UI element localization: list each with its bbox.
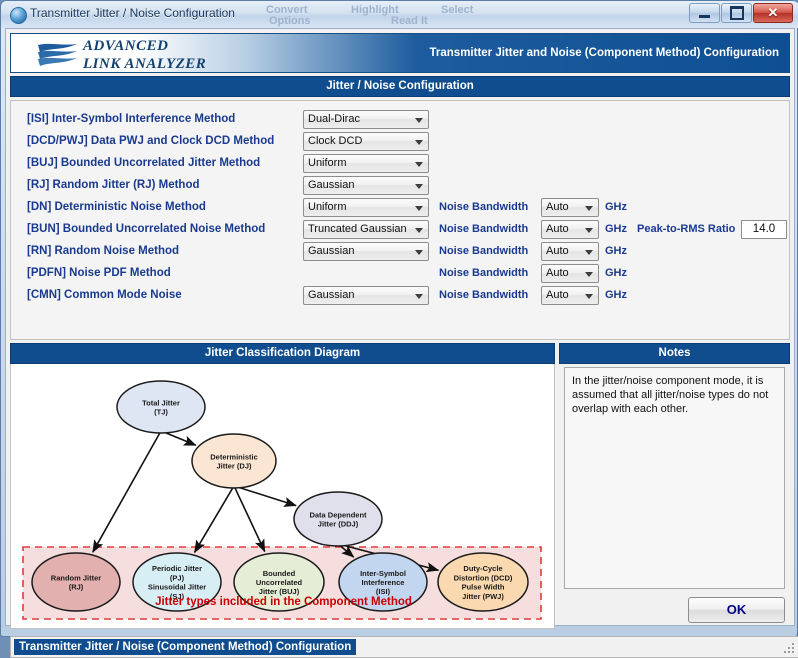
configuration-form: [ISI] Inter-Symbol Interference MethodDu… <box>10 100 790 340</box>
noise-bandwidth-label: Noise Bandwidth <box>439 245 528 257</box>
diagram-node-label-line: (ISI) <box>376 587 391 596</box>
minimize-icon <box>699 15 710 18</box>
svg-text:DeterministicJitter (DJ): DeterministicJitter (DJ) <box>210 452 258 470</box>
chevron-down-icon <box>415 250 423 255</box>
field-label: [DCD/PWJ] Data PWJ and Clock DCD Method <box>27 135 274 147</box>
ghost-text-4: Read It <box>391 15 428 27</box>
field-label: [RN] Random Noise Method <box>27 245 179 257</box>
noise-bandwidth-value: Auto <box>546 267 569 279</box>
globe-icon <box>10 7 27 24</box>
diagram-section-title: Jitter Classification Diagram <box>10 343 555 364</box>
window-title: Transmitter Jitter / Noise Configuration <box>30 6 235 20</box>
diagram-node-label-line: Interference <box>362 578 405 587</box>
bandwidth-unit: GHz <box>605 245 627 257</box>
chevron-down-icon <box>415 184 423 189</box>
method-dropdown-value: Gaussian <box>308 245 354 257</box>
diagram-node-label-line: Periodic Jitter <box>152 564 202 573</box>
diagram-node-label-line: Pulse Width <box>462 583 505 592</box>
method-dropdown-value: Gaussian <box>308 289 354 301</box>
form-row: [ISI] Inter-Symbol Interference MethodDu… <box>11 110 791 132</box>
method-dropdown[interactable]: Uniform <box>303 154 429 173</box>
method-dropdown-value: Clock DCD <box>308 135 362 147</box>
status-text: Transmitter Jitter / Noise (Component Me… <box>14 639 356 655</box>
diagram-node-label-line: Jitter (DDJ) <box>318 520 359 529</box>
jitter-classification-diagram: Total Jitter(TJ)DeterministicJitter (DJ)… <box>10 364 555 629</box>
diagram-node-label-line: Uncorrelated <box>256 578 303 587</box>
chevron-down-icon <box>415 206 423 211</box>
diagram-edge <box>195 486 234 553</box>
diagram-node-label-line: Jitter (BUJ) <box>259 587 300 596</box>
form-row: [DN] Deterministic Noise MethodUniformNo… <box>11 198 791 220</box>
diagram-edge <box>234 486 265 552</box>
field-label: [RJ] Random Jitter (RJ) Method <box>27 179 200 191</box>
maximize-icon <box>730 6 744 20</box>
header-subtitle: Transmitter Jitter and Noise (Component … <box>430 47 779 59</box>
noise-bandwidth-label: Noise Bandwidth <box>439 289 528 301</box>
chevron-down-icon <box>415 118 423 123</box>
ghost-text-2: Select <box>441 4 473 16</box>
diagram-node-label-line: Duty-Cycle <box>463 564 502 573</box>
notes-section-title: Notes <box>559 343 790 364</box>
diagram-node-label-line: Distortion (DCD) <box>454 573 513 582</box>
resize-grip-icon[interactable] <box>784 643 796 655</box>
config-section-title: Jitter / Noise Configuration <box>10 76 790 97</box>
brand-line-1: ADVANCED <box>83 39 206 54</box>
method-dropdown-value: Uniform <box>308 157 347 169</box>
method-dropdown[interactable]: Gaussian <box>303 286 429 305</box>
noise-bandwidth-label: Noise Bandwidth <box>439 223 528 235</box>
diagram-caption: Jitter types included in the Component M… <box>11 596 555 608</box>
diagram-node-label-line: Sinusoidal Jitter <box>148 583 206 592</box>
noise-bandwidth-value: Auto <box>546 245 569 257</box>
method-dropdown-value: Uniform <box>308 201 347 213</box>
peak-to-rms-label: Peak-to-RMS Ratio <box>637 223 735 235</box>
form-row: [RJ] Random Jitter (RJ) MethodGaussian <box>11 176 791 198</box>
bandwidth-unit: GHz <box>605 267 627 279</box>
chevron-down-icon <box>585 228 593 233</box>
noise-bandwidth-dropdown[interactable]: Auto <box>541 264 599 283</box>
form-row: [BUN] Bounded Uncorrelated Noise MethodT… <box>11 220 791 242</box>
method-dropdown[interactable]: Dual-Dirac <box>303 110 429 129</box>
link-analyzer-logo-icon <box>37 41 79 67</box>
diagram-node-ddj: Data DependentJitter (DDJ) <box>294 492 382 546</box>
method-dropdown-value: Gaussian <box>308 179 354 191</box>
diagram-node-label-line: Bounded <box>263 569 296 578</box>
chevron-down-icon <box>585 272 593 277</box>
field-label: [CMN] Common Mode Noise <box>27 289 182 301</box>
chevron-down-icon <box>585 250 593 255</box>
field-label: [BUJ] Bounded Uncorrelated Jitter Method <box>27 157 260 169</box>
method-dropdown-value: Truncated Gaussian <box>308 223 407 235</box>
noise-bandwidth-value: Auto <box>546 223 569 235</box>
method-dropdown-value: Dual-Dirac <box>308 113 360 125</box>
diagram-node-label-line: (TJ) <box>154 408 168 417</box>
form-row: [PDFN] Noise PDF MethodNoise BandwidthAu… <box>11 264 791 286</box>
notes-text: In the jitter/noise component mode, it i… <box>564 367 785 589</box>
chevron-down-icon <box>415 294 423 299</box>
field-label: [PDFN] Noise PDF Method <box>27 267 171 279</box>
method-dropdown[interactable]: Gaussian <box>303 176 429 195</box>
noise-bandwidth-dropdown[interactable]: Auto <box>541 198 599 217</box>
diagram-node-label-line: Random Jitter <box>51 573 102 582</box>
title-bar[interactable]: Convert Highlight Select Options Read It… <box>1 1 798 28</box>
chevron-down-icon <box>585 206 593 211</box>
ghost-text-3: Options <box>269 15 311 27</box>
diagram-node-label-line: Jitter (DJ) <box>216 462 252 471</box>
diagram-node-label-line: (RJ) <box>69 583 84 592</box>
bandwidth-unit: GHz <box>605 201 627 213</box>
brand-wordmark: ADVANCED LINK ANALYZER <box>83 39 206 72</box>
diagram-node-label-line: Inter-Symbol <box>360 569 406 578</box>
application-window: Convert Highlight Select Options Read It… <box>0 0 798 637</box>
field-label: [BUN] Bounded Uncorrelated Noise Method <box>27 223 265 235</box>
diagram-edge <box>93 431 161 552</box>
diagram-node-label-line: (PJ) <box>170 573 185 582</box>
noise-bandwidth-value: Auto <box>546 289 569 301</box>
diagram-node-label-line: Deterministic <box>210 452 258 461</box>
peak-to-rms-input[interactable]: 14.0 <box>741 220 787 239</box>
diagram-node-dj: DeterministicJitter (DJ) <box>192 434 276 488</box>
noise-bandwidth-dropdown[interactable]: Auto <box>541 220 599 239</box>
form-row: [DCD/PWJ] Data PWJ and Clock DCD MethodC… <box>11 132 791 154</box>
noise-bandwidth-dropdown[interactable]: Auto <box>541 286 599 305</box>
bandwidth-unit: GHz <box>605 289 627 301</box>
diagram-node-label-line: Data Dependent <box>309 510 367 519</box>
bandwidth-unit: GHz <box>605 223 627 235</box>
form-row: [CMN] Common Mode NoiseGaussianNoise Ban… <box>11 286 791 308</box>
ok-button[interactable]: OK <box>688 597 785 623</box>
noise-bandwidth-label: Noise Bandwidth <box>439 201 528 213</box>
method-dropdown[interactable]: Uniform <box>303 198 429 217</box>
field-label: [DN] Deterministic Noise Method <box>27 201 206 213</box>
noise-bandwidth-label: Noise Bandwidth <box>439 267 528 279</box>
field-label: [ISI] Inter-Symbol Interference Method <box>27 113 235 125</box>
brand-line-2: LINK ANALYZER <box>83 57 206 72</box>
form-row: [BUJ] Bounded Uncorrelated Jitter Method… <box>11 154 791 176</box>
maximize-button[interactable] <box>721 3 752 23</box>
noise-bandwidth-dropdown[interactable]: Auto <box>541 242 599 261</box>
method-dropdown[interactable]: Clock DCD <box>303 132 429 151</box>
brand-header: ADVANCED LINK ANALYZER Transmitter Jitte… <box>10 33 790 73</box>
diagram-node-label-line: Total Jitter <box>142 398 180 407</box>
diagram-canvas: Total Jitter(TJ)DeterministicJitter (DJ)… <box>11 364 555 627</box>
diagram-edge <box>234 486 296 506</box>
method-dropdown[interactable]: Gaussian <box>303 242 429 261</box>
minimize-button[interactable] <box>689 3 720 23</box>
status-bar: Transmitter Jitter / Noise (Component Me… <box>10 636 798 658</box>
diagram-nodes: Total Jitter(TJ)DeterministicJitter (DJ)… <box>32 381 528 611</box>
chevron-down-icon <box>415 162 423 167</box>
client-area: ADVANCED LINK ANALYZER Transmitter Jitte… <box>5 28 795 626</box>
chevron-down-icon <box>415 228 423 233</box>
diagram-node-tj: Total Jitter(TJ) <box>117 381 205 433</box>
chevron-down-icon <box>585 294 593 299</box>
chevron-down-icon <box>415 140 423 145</box>
form-row: [RN] Random Noise MethodGaussianNoise Ba… <box>11 242 791 264</box>
close-button[interactable]: ✕ <box>753 3 793 23</box>
method-dropdown[interactable]: Truncated Gaussian <box>303 220 429 239</box>
noise-bandwidth-value: Auto <box>546 201 569 213</box>
close-icon: ✕ <box>768 5 779 21</box>
